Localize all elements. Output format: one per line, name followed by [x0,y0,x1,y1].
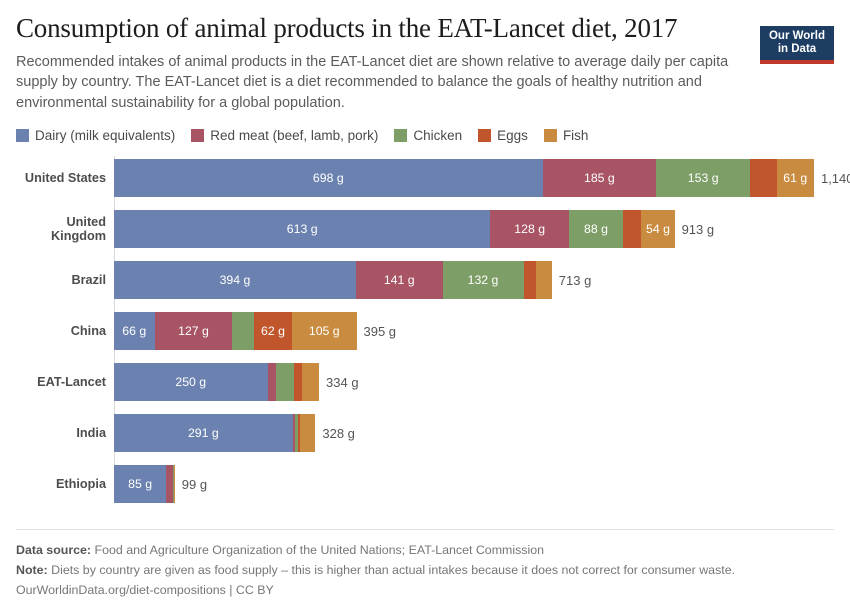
bar-segment[interactable] [750,159,776,197]
bar-segment[interactable]: 698 g [114,159,543,197]
legend-swatch-icon [191,129,204,142]
legend-item[interactable]: Red meat (beef, lamb, pork) [191,128,378,143]
bar-segment-label: 132 g [468,273,499,287]
legend-item-label: Eggs [497,128,528,143]
legend-item-label: Dairy (milk equivalents) [35,128,175,143]
bar-total-label: 713 g [552,273,592,288]
stacked-bar[interactable]: 250 g334 g [114,363,834,401]
footer-note-text: Diets by country are given as food suppl… [51,563,735,577]
bar-segment[interactable] [276,363,294,401]
bar-segment-label: 62 g [261,324,285,338]
bar-segment[interactable] [268,363,277,401]
bar-segment-label: 66 g [122,324,146,338]
bar-total-label: 1,140 g [814,171,850,186]
bar-segment-label: 61 g [783,171,807,185]
stacked-bar[interactable]: 66 g127 g62 g105 g395 g [114,312,834,350]
bar-total-label: 334 g [319,375,359,390]
legend-swatch-icon [16,129,29,142]
bar-segment-label: 85 g [128,477,152,491]
owid-logo-line1: Our World [760,30,834,43]
bar-segment[interactable]: 250 g [114,363,268,401]
bar-segment[interactable]: 185 g [543,159,657,197]
bar-row-label: China [16,324,112,338]
owid-logo-line2: in Data [760,43,834,56]
bar-segment[interactable]: 105 g [292,312,356,350]
bar-segment[interactable]: 613 g [114,210,490,248]
footer-note: Note: Diets by country are given as food… [16,560,834,580]
chart-title: Consumption of animal products in the EA… [16,14,834,44]
bar-segment-label: 698 g [313,171,344,185]
bar-segment[interactable]: 62 g [254,312,292,350]
bar-row-label: United Kingdom [16,215,112,243]
stacked-bar[interactable]: 394 g141 g132 g713 g [114,261,834,299]
bar-row[interactable]: United States698 g185 g153 g61 g1,140 g [16,156,834,200]
stacked-bar[interactable]: 613 g128 g88 g54 g913 g [114,210,834,248]
bar-row[interactable]: United Kingdom613 g128 g88 g54 g913 g [16,207,834,251]
footer-note-label: Note: [16,563,48,577]
bar-segment[interactable]: 394 g [114,261,356,299]
bar-segment-label: 128 g [514,222,545,236]
bar-total-label: 328 g [315,426,355,441]
legend-swatch-icon [544,129,557,142]
bar-segment-label: 105 g [309,324,340,338]
legend-item-label: Red meat (beef, lamb, pork) [210,128,378,143]
bar-segment-label: 613 g [287,222,318,236]
chart-legend: Dairy (milk equivalents)Red meat (beef, … [16,128,834,143]
stacked-bar[interactable]: 698 g185 g153 g61 g1,140 g [114,159,850,197]
bar-segment[interactable]: 127 g [155,312,233,350]
bar-row-label: India [16,426,112,440]
bar-segment[interactable] [623,210,641,248]
footer-license-link[interactable]: OurWorldinData.org/diet-compositions | C… [16,583,274,597]
chart-footer: Data source: Food and Agriculture Organi… [16,529,834,600]
bar-segment[interactable] [300,414,315,452]
bar-segment-label: 153 g [688,171,719,185]
bar-segment-label: 291 g [188,426,219,440]
bar-segment[interactable]: 85 g [114,465,166,503]
bar-segment-label: 54 g [646,222,670,236]
bar-segment[interactable]: 153 g [656,159,750,197]
bar-segment-label: 394 g [220,273,251,287]
footer-license: OurWorldinData.org/diet-compositions | C… [16,580,834,600]
stacked-bar[interactable]: 85 g99 g [114,465,834,503]
bar-segment[interactable] [232,312,253,350]
bar-total-label: 395 g [357,324,397,339]
chart-subtitle: Recommended intakes of animal products i… [16,52,746,114]
footer-source-label: Data source: [16,543,91,557]
bar-segment[interactable]: 66 g [114,312,155,350]
bar-segment-label: 250 g [175,375,206,389]
legend-item-label: Chicken [413,128,462,143]
bar-row[interactable]: China66 g127 g62 g105 g395 g [16,309,834,353]
bar-segment[interactable]: 61 g [777,159,814,197]
bar-row-label: United States [16,171,112,185]
bar-segment-label: 141 g [384,273,415,287]
bar-segment[interactable] [166,465,173,503]
footer-source-text: Food and Agriculture Organization of the… [95,543,545,557]
bar-row[interactable]: EAT-Lancet250 g334 g [16,360,834,404]
legend-item[interactable]: Dairy (milk equivalents) [16,128,175,143]
legend-item[interactable]: Chicken [394,128,462,143]
bar-total-label: 913 g [675,222,715,237]
bar-row-label: EAT-Lancet [16,375,112,389]
bar-segment[interactable]: 141 g [356,261,443,299]
bar-segment[interactable]: 88 g [569,210,623,248]
bar-segment-label: 88 g [584,222,608,236]
footer-source: Data source: Food and Agriculture Organi… [16,540,834,560]
bar-rows: United States698 g185 g153 g61 g1,140 gU… [16,156,834,506]
legend-item[interactable]: Eggs [478,128,528,143]
owid-logo[interactable]: Our World in Data [760,26,834,64]
bar-segment-label: 127 g [178,324,209,338]
legend-swatch-icon [394,129,407,142]
bar-row[interactable]: India291 g328 g [16,411,834,455]
bar-segment[interactable] [302,363,319,401]
bar-row-label: Brazil [16,273,112,287]
bar-segment-label: 185 g [584,171,615,185]
bar-segment[interactable]: 128 g [490,210,569,248]
bar-total-label: 99 g [175,477,207,492]
bar-row[interactable]: Ethiopia85 g99 g [16,462,834,506]
chart-page: Our World in Data Consumption of animal … [0,14,850,614]
bar-segment[interactable]: 291 g [114,414,293,452]
bar-segment[interactable] [174,465,175,503]
legend-swatch-icon [478,129,491,142]
stacked-bar[interactable]: 291 g328 g [114,414,834,452]
legend-item-label: Fish [563,128,589,143]
bar-row[interactable]: Brazil394 g141 g132 g713 g [16,258,834,302]
legend-item[interactable]: Fish [544,128,589,143]
bar-row-label: Ethiopia [16,477,112,491]
bar-segment[interactable] [294,363,302,401]
bar-segment[interactable]: 54 g [641,210,674,248]
bar-segment[interactable] [524,261,536,299]
bar-segment[interactable] [536,261,552,299]
bar-segment[interactable]: 132 g [443,261,524,299]
chart-plot-area: United States698 g185 g153 g61 g1,140 gU… [16,156,834,511]
